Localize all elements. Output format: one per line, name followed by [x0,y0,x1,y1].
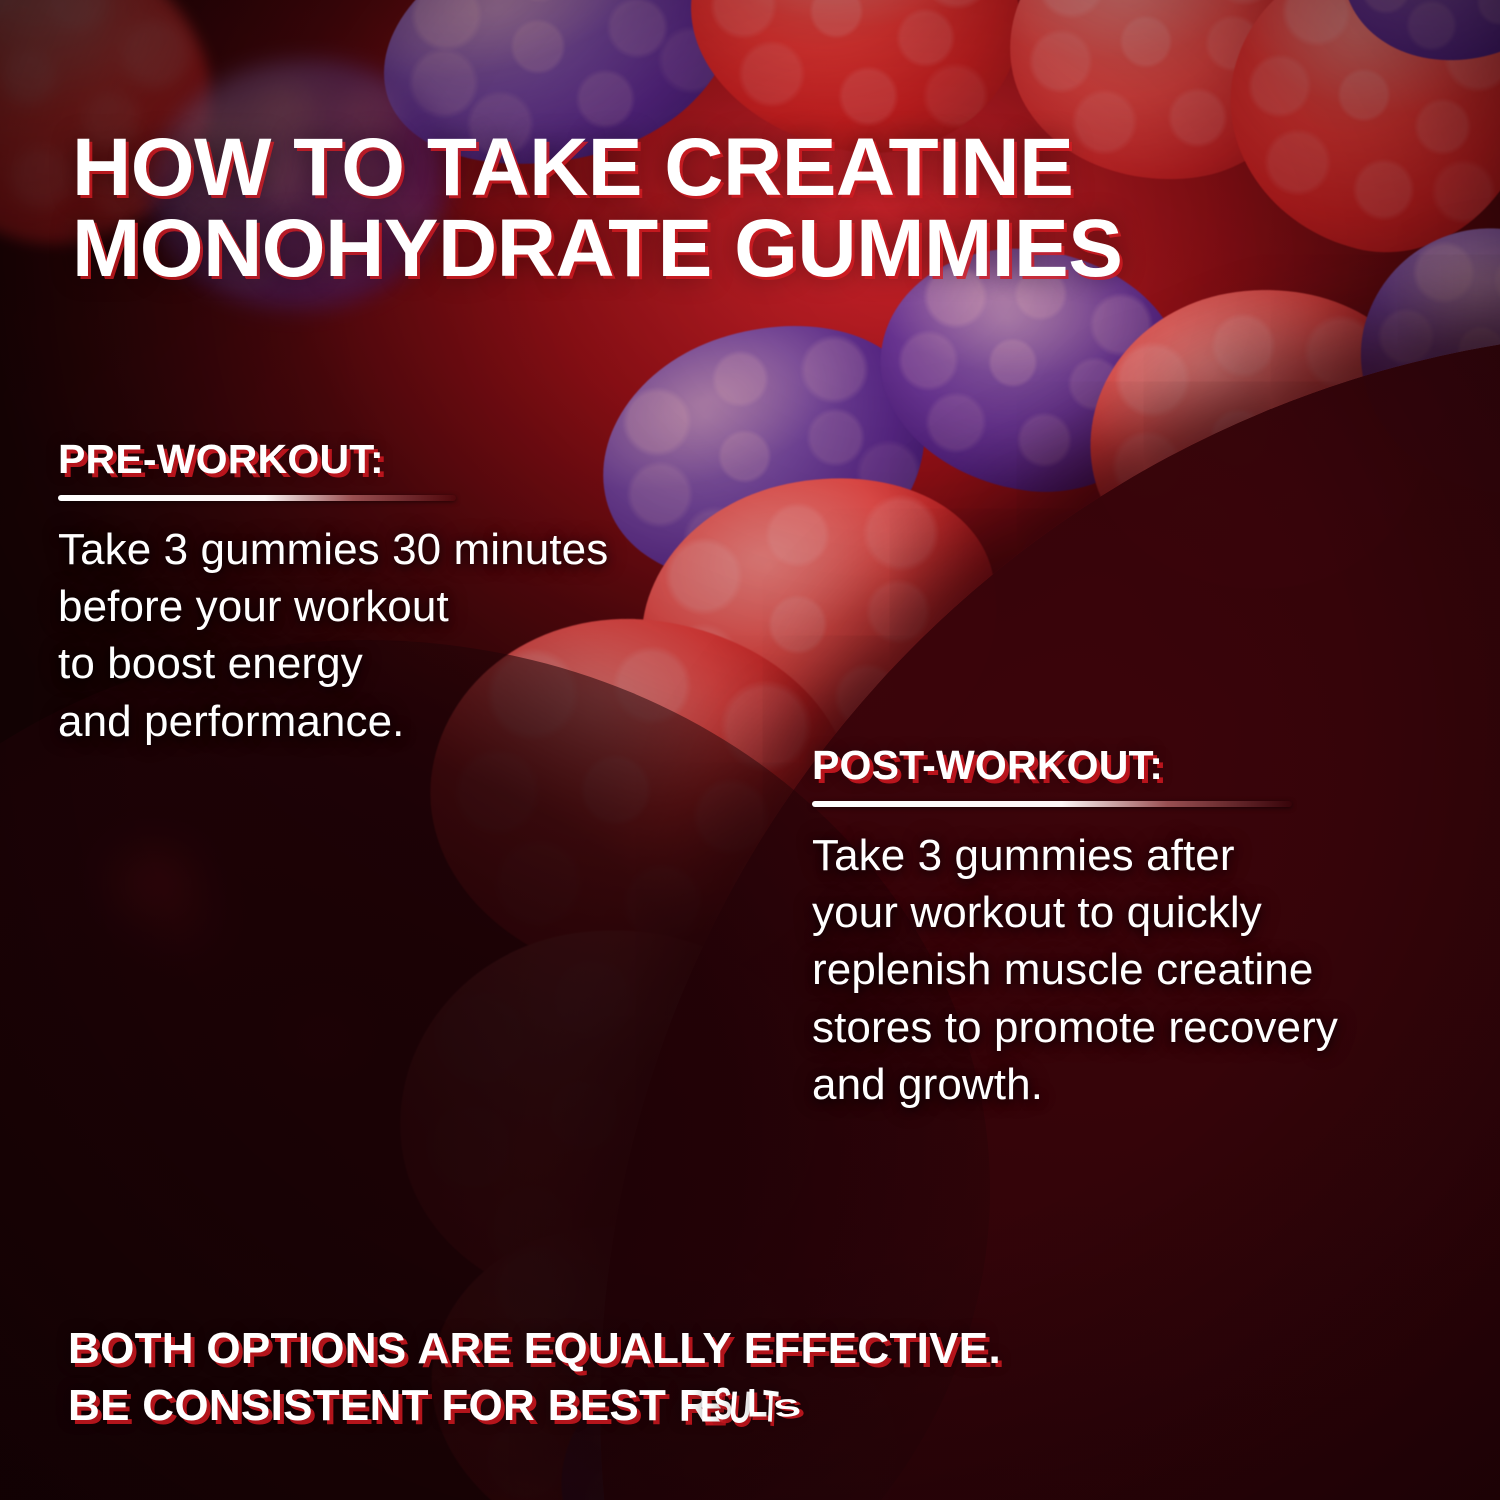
pre-workout-heading: PRE-WORKOUT: [58,436,758,483]
post-body-line: your workout to quickly [812,884,1472,941]
page-title: HOW TO TAKE CREATINE MONOHYDRATE GUMMIES [72,127,1412,289]
footer-tagline: BOTH OPTIONS ARE EQUALLY EFFECTIVE. BE C… [68,1320,1368,1434]
post-body-line: and growth. [812,1056,1472,1113]
tagline-line-1: BOTH OPTIONS ARE EQUALLY EFFECTIVE. [68,1320,1368,1377]
post-workout-divider [812,801,1292,807]
pre-workout-body: Take 3 gummies 30 minutes before your wo… [58,521,758,750]
post-body-line: replenish muscle creatine [812,941,1472,998]
post-workout-section: POST-WORKOUT: Take 3 gummies after your … [812,742,1472,1113]
post-body-line: Take 3 gummies after [812,827,1472,884]
title-line-1: HOW TO TAKE CREATINE [72,122,1073,213]
tagline-line-2: BE CONSISTENT FOR BEST RESULTS [68,1377,1368,1434]
post-workout-body: Take 3 gummies after your workout to qui… [812,827,1472,1113]
post-body-line: stores to promote recovery [812,999,1472,1056]
pre-workout-divider [58,495,456,501]
tagline-garbled-word: RESULTS [679,1377,821,1435]
tagline-line-2-prefix: BE CONSISTENT FOR BEST [68,1381,679,1430]
pre-body-line: and performance. [58,693,758,750]
pre-body-line: to boost energy [58,635,758,692]
pre-body-line: Take 3 gummies 30 minutes [58,521,758,578]
pre-workout-section: PRE-WORKOUT: Take 3 gummies 30 minutes b… [58,436,758,750]
creatine-gummies-infographic: HOW TO TAKE CREATINE MONOHYDRATE GUMMIES… [0,0,1500,1500]
post-workout-heading: POST-WORKOUT: [812,742,1472,789]
title-line-2: MONOHYDRATE GUMMIES [72,208,1412,289]
pre-body-line: before your workout [58,578,758,635]
poster-content: HOW TO TAKE CREATINE MONOHYDRATE GUMMIES… [0,0,1500,1500]
